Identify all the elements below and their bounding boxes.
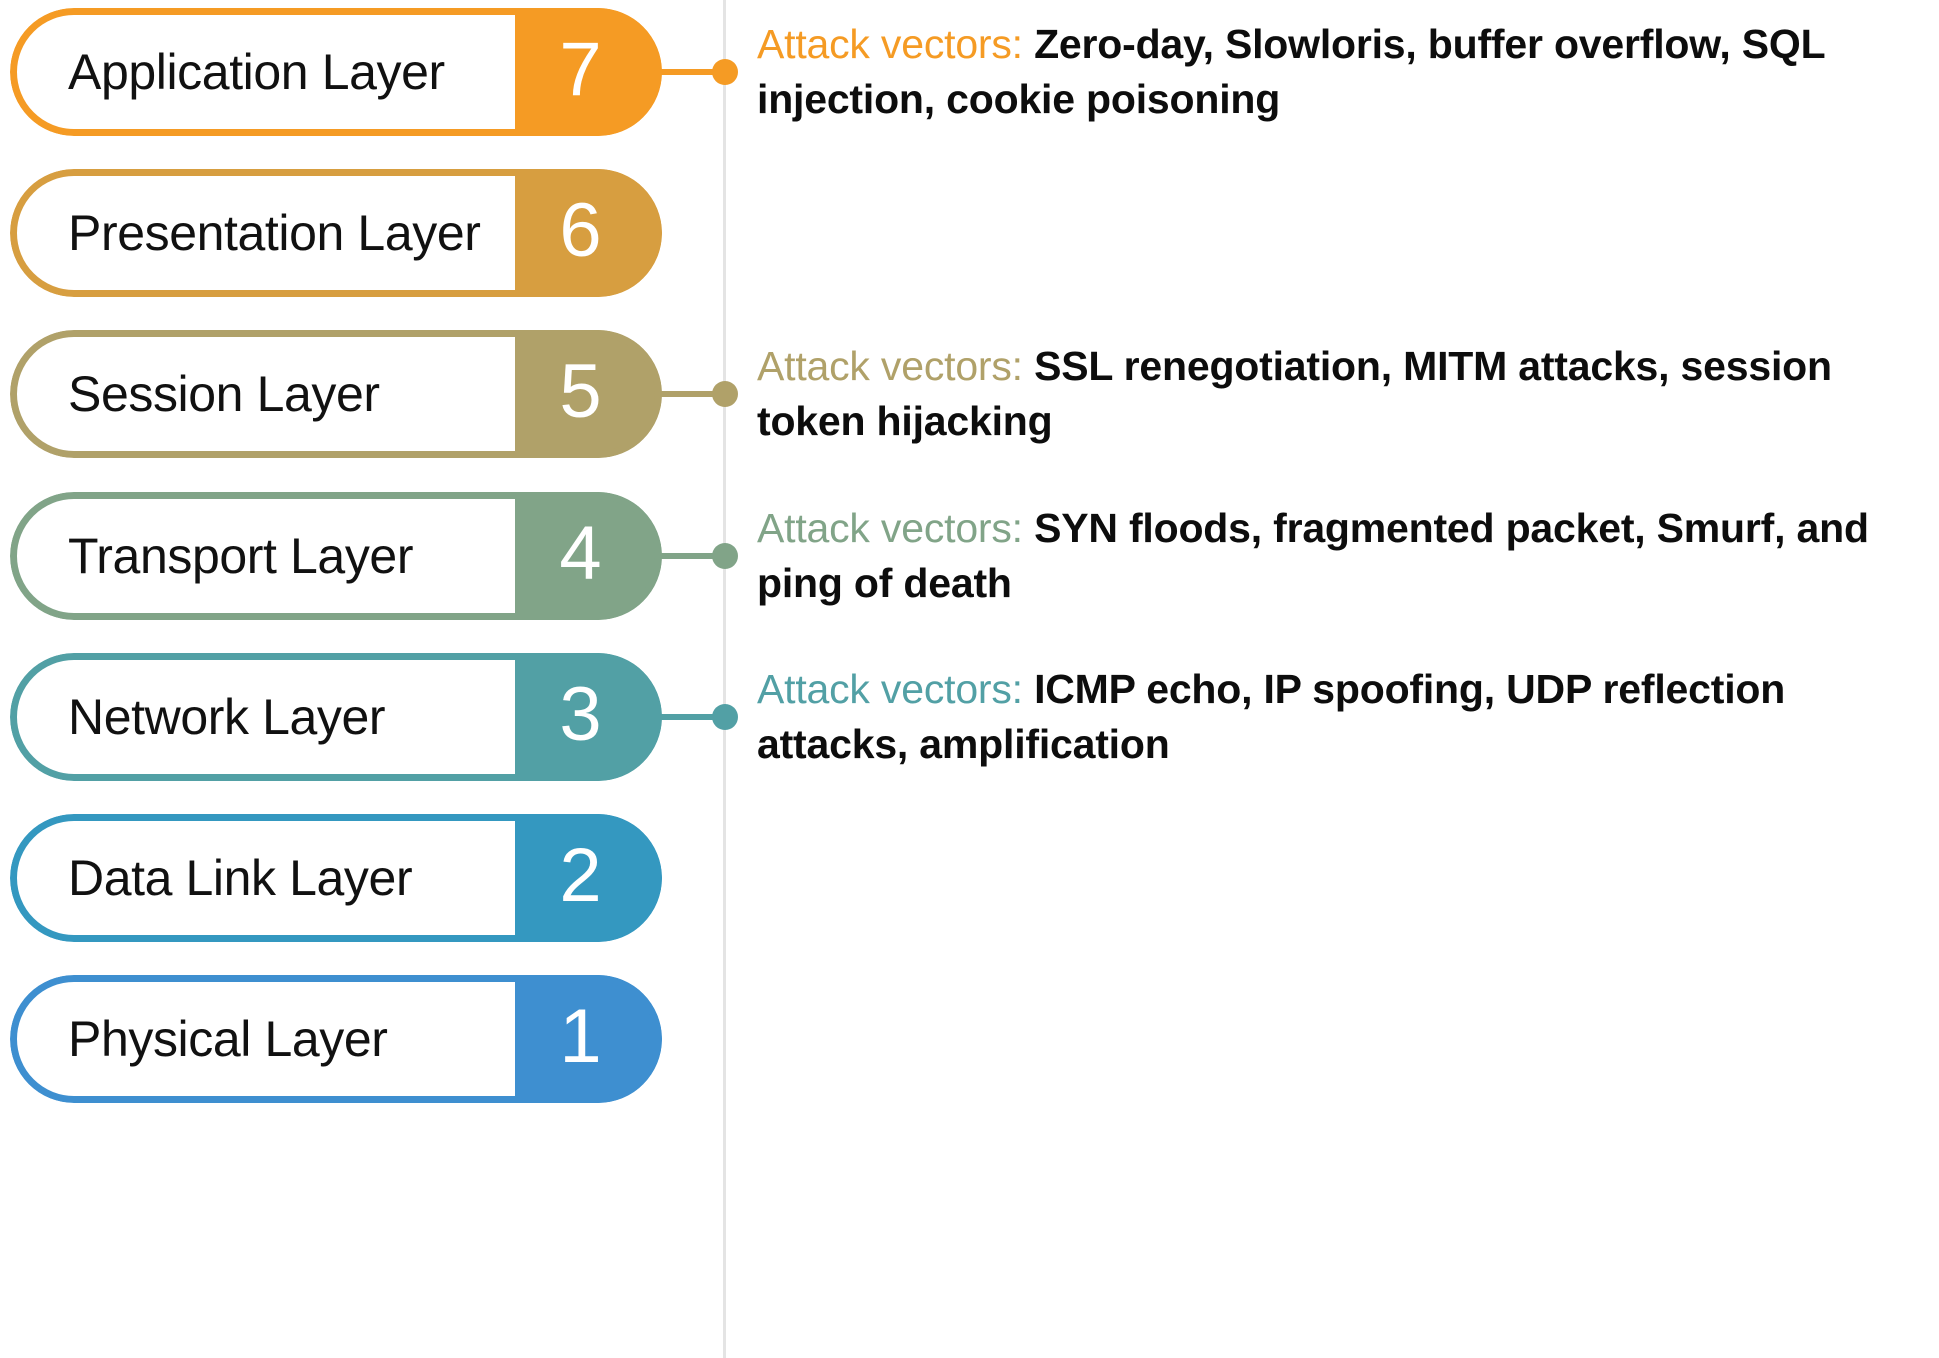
osi-layer-row-network[interactable]: Network Layer3 [10, 653, 670, 781]
layer-name-application: Application Layer [10, 43, 445, 101]
osi-layer-row-presentation[interactable]: Presentation Layer6 [10, 169, 670, 297]
layer-label-area-network: Network Layer [10, 653, 515, 781]
layer-name-presentation: Presentation Layer [10, 204, 481, 262]
connector-dot-network [712, 704, 738, 730]
connector-dot-session [712, 381, 738, 407]
layer-number-badge-session: 5 [515, 330, 662, 458]
layer-name-transport: Transport Layer [10, 527, 413, 585]
connector-network [655, 704, 738, 730]
attack-vectors-network: Attack vectors: ICMP echo, IP spoofing, … [757, 662, 1932, 772]
connector-transport [655, 543, 738, 569]
layer-label-area-presentation: Presentation Layer [10, 169, 515, 297]
layer-pill-transport[interactable]: Transport Layer4 [10, 492, 662, 620]
layer-name-datalink: Data Link Layer [10, 849, 412, 907]
layer-pill-physical[interactable]: Physical Layer1 [10, 975, 662, 1103]
attack-vectors-application: Attack vectors: Zero-day, Slowloris, buf… [757, 17, 1932, 127]
connector-dot-transport [712, 543, 738, 569]
attack-vectors-session: Attack vectors: SSL renegotiation, MITM … [757, 339, 1932, 449]
layer-pill-presentation[interactable]: Presentation Layer6 [10, 169, 662, 297]
osi-layer-row-session[interactable]: Session Layer5 [10, 330, 670, 458]
layer-label-area-application: Application Layer [10, 8, 515, 136]
osi-layer-row-application[interactable]: Application Layer7 [10, 8, 670, 136]
layer-number-badge-physical: 1 [515, 975, 662, 1103]
layer-number-badge-network: 3 [515, 653, 662, 781]
layer-pill-network[interactable]: Network Layer3 [10, 653, 662, 781]
layer-number-presentation: 6 [559, 193, 601, 269]
layer-number-badge-transport: 4 [515, 492, 662, 620]
connector-application [655, 59, 738, 85]
attack-vectors-transport: Attack vectors: SYN floods, fragmented p… [757, 501, 1932, 611]
layer-number-badge-datalink: 2 [515, 814, 662, 942]
layer-label-area-session: Session Layer [10, 330, 515, 458]
layer-number-network: 3 [559, 677, 601, 753]
layer-number-datalink: 2 [559, 838, 601, 914]
layer-pill-application[interactable]: Application Layer7 [10, 8, 662, 136]
osi-diagram: Application Layer7Attack vectors: Zero-d… [0, 0, 1939, 1358]
attack-vectors-label-application: Attack vectors: [757, 21, 1023, 67]
layer-name-session: Session Layer [10, 365, 380, 423]
layer-number-badge-application: 7 [515, 8, 662, 136]
osi-layer-row-physical[interactable]: Physical Layer1 [10, 975, 670, 1103]
layer-number-transport: 4 [559, 516, 601, 592]
layer-number-badge-presentation: 6 [515, 169, 662, 297]
layer-label-area-transport: Transport Layer [10, 492, 515, 620]
osi-layer-row-datalink[interactable]: Data Link Layer2 [10, 814, 670, 942]
layer-label-area-datalink: Data Link Layer [10, 814, 515, 942]
layer-number-application: 7 [559, 32, 601, 108]
layer-label-area-physical: Physical Layer [10, 975, 515, 1103]
layer-name-network: Network Layer [10, 688, 385, 746]
osi-layer-row-transport[interactable]: Transport Layer4 [10, 492, 670, 620]
layer-name-physical: Physical Layer [10, 1010, 388, 1068]
vertical-divider [723, 0, 726, 1358]
connector-dot-application [712, 59, 738, 85]
layer-number-session: 5 [559, 354, 601, 430]
connector-session [655, 381, 738, 407]
attack-vectors-label-network: Attack vectors: [757, 666, 1023, 712]
layer-number-physical: 1 [559, 999, 601, 1075]
attack-vectors-label-session: Attack vectors: [757, 343, 1023, 389]
layer-pill-datalink[interactable]: Data Link Layer2 [10, 814, 662, 942]
attack-vectors-label-transport: Attack vectors: [757, 505, 1023, 551]
layer-pill-session[interactable]: Session Layer5 [10, 330, 662, 458]
